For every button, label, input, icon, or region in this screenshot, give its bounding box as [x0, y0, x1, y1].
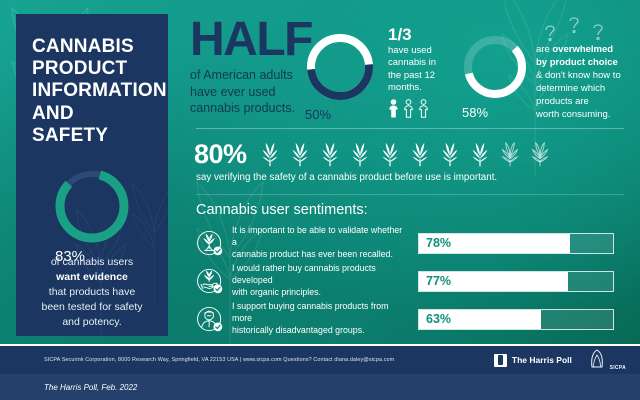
footer-logos: The Harris Poll SICPA: [494, 346, 626, 374]
third-sub-line-4: months.: [388, 82, 454, 94]
half-sub-line-1: of American adults: [190, 67, 318, 84]
hand-leaf-icon: [196, 267, 224, 295]
sicpa-mark-icon: [586, 349, 608, 369]
sentiments-title: Cannabis user sentiments:: [196, 202, 368, 218]
person-filled-icon: [388, 99, 399, 118]
left-panel-caption: of cannabis users want evidence that pro…: [16, 255, 168, 330]
page-title: CANNABIS PRODUCT INFORMATION AND SAFETY: [16, 14, 168, 147]
sentiment-bar-value: 78%: [426, 234, 451, 253]
leaf-filled-icon: [467, 142, 493, 168]
overwhelmed-bold-1: overwhelmed: [552, 44, 613, 55]
infographic-poster: CANNABIS PRODUCT INFORMATION AND SAFETY …: [0, 0, 640, 400]
one-third-fraction: 1/3: [388, 26, 454, 43]
donut-50-value: 50%: [305, 107, 375, 122]
sentiment-bar: 63%: [418, 309, 614, 330]
caption-line-3: that products have: [30, 285, 154, 300]
footer-address-text: SICPA Securink Corporation, 8000 Researc…: [44, 357, 394, 363]
caption-bold: want evidence: [56, 271, 128, 283]
sentiment-row: I would rather buy cannabis products dev…: [196, 264, 624, 298]
donut-50: 50%: [305, 32, 375, 102]
overwhelmed-rest-1: & don't know how to: [536, 70, 621, 81]
donut-50-svg: [305, 32, 375, 102]
half-sub-line-3: cannabis products.: [190, 100, 318, 117]
half-sub-line-2: have ever used: [190, 84, 318, 101]
leaf-filled-icon: [377, 142, 403, 168]
leaf-filled-icon: [407, 142, 433, 168]
sentiment-bar-value: 63%: [426, 310, 451, 329]
footer-contact-bar: SICPA Securink Corporation, 8000 Researc…: [0, 344, 640, 374]
leaf-filled-icon: [347, 142, 373, 168]
sentiment-bar: 78%: [418, 233, 614, 254]
sentiment-text: I support buying cannabis products from …: [232, 301, 404, 336]
left-title-panel: CANNABIS PRODUCT INFORMATION AND SAFETY …: [16, 14, 168, 336]
sentiment-bar-value: 77%: [426, 272, 451, 291]
harris-poll-label: The Harris Poll: [512, 355, 572, 365]
leaf-pictogram-caption: say verifying the safety of a cannabis p…: [196, 172, 497, 183]
overwhelmed-rest-4: worth consuming.: [536, 109, 610, 120]
leaf-filled-icon: [287, 142, 313, 168]
donut-58: 58%: [462, 34, 528, 100]
half-stat-block: HALF of American adults have ever used c…: [190, 18, 318, 117]
donut-83: 83%: [55, 169, 129, 243]
sentiment-text-line-2: cannabis product has ever been recalled.: [232, 249, 404, 261]
leaf-check-icon: [196, 229, 224, 257]
harris-poll-logo: The Harris Poll: [494, 354, 572, 367]
sentiment-row: It is important to be able to validate w…: [196, 226, 624, 260]
overwhelmed-rest-3: products are: [536, 96, 589, 107]
question-marks-icon: [536, 14, 620, 44]
donut-58-svg: [462, 34, 528, 100]
third-sub-line-2: cannabis in: [388, 57, 454, 69]
overwhelmed-text: are overwhelmed by product choice & don'…: [536, 44, 628, 121]
leaf-outline-icon: [527, 142, 553, 168]
sentiment-row: I support buying cannabis products from …: [196, 302, 624, 336]
leaf-filled-icon: [317, 142, 343, 168]
footer-source-text: The Harris Poll, Feb. 2022: [44, 383, 137, 392]
one-third-stat-block: 1/3 have used cannabis in the past 12 mo…: [388, 26, 454, 118]
overwhelmed-lead: are: [536, 44, 552, 55]
sentiment-bar: 77%: [418, 271, 614, 292]
overwhelmed-bold-2: by product choice: [536, 57, 618, 68]
overwhelmed-rest-2: determine which: [536, 83, 605, 94]
donut-83-svg: [55, 169, 129, 243]
donut-58-value: 58%: [462, 105, 528, 120]
leaf-pictogram-row: 80%: [194, 139, 553, 170]
sentiment-text-line-1: I would rather buy cannabis products dev…: [232, 263, 404, 287]
sentiment-text: It is important to be able to validate w…: [232, 225, 404, 260]
sentiments-list: It is important to be able to validate w…: [196, 226, 624, 340]
people-pictogram: [388, 99, 454, 118]
sentiment-text-line-1: It is important to be able to validate w…: [232, 225, 404, 249]
caption-line-4: been tested for safety: [30, 300, 154, 315]
third-sub-line-3: the past 12: [388, 70, 454, 82]
sentiment-text: I would rather buy cannabis products dev…: [232, 263, 404, 298]
half-headline: HALF: [190, 18, 318, 62]
sicpa-label: SICPA: [610, 365, 626, 371]
half-subtext: of American adults have ever used cannab…: [190, 67, 318, 117]
person-outline-icon: [418, 99, 429, 118]
sicpa-logo: SICPA: [586, 349, 626, 371]
person-check-icon: [196, 305, 224, 333]
leaf-outline-icon: [497, 142, 523, 168]
harris-poll-mark-icon: [494, 354, 507, 367]
one-third-subtext: have used cannabis in the past 12 months…: [388, 45, 454, 94]
divider-top: [196, 128, 624, 129]
sentiment-text-line-1: I support buying cannabis products from …: [232, 301, 404, 325]
leaf-filled-icon: [257, 142, 283, 168]
footer-source-bar: The Harris Poll, Feb. 2022: [0, 374, 640, 400]
third-sub-line-1: have used: [388, 45, 454, 57]
leaf-percent-label: 80%: [194, 139, 247, 170]
sentiment-text-line-2: with organic principles.: [232, 287, 404, 299]
caption-line-1: of cannabis users: [30, 255, 154, 270]
caption-line-5: and potency.: [30, 315, 154, 330]
divider-sentiments: [196, 194, 624, 195]
person-outline-icon: [403, 99, 414, 118]
sentiment-text-line-2: historically disadvantaged groups.: [232, 325, 404, 337]
leaf-filled-icon: [437, 142, 463, 168]
